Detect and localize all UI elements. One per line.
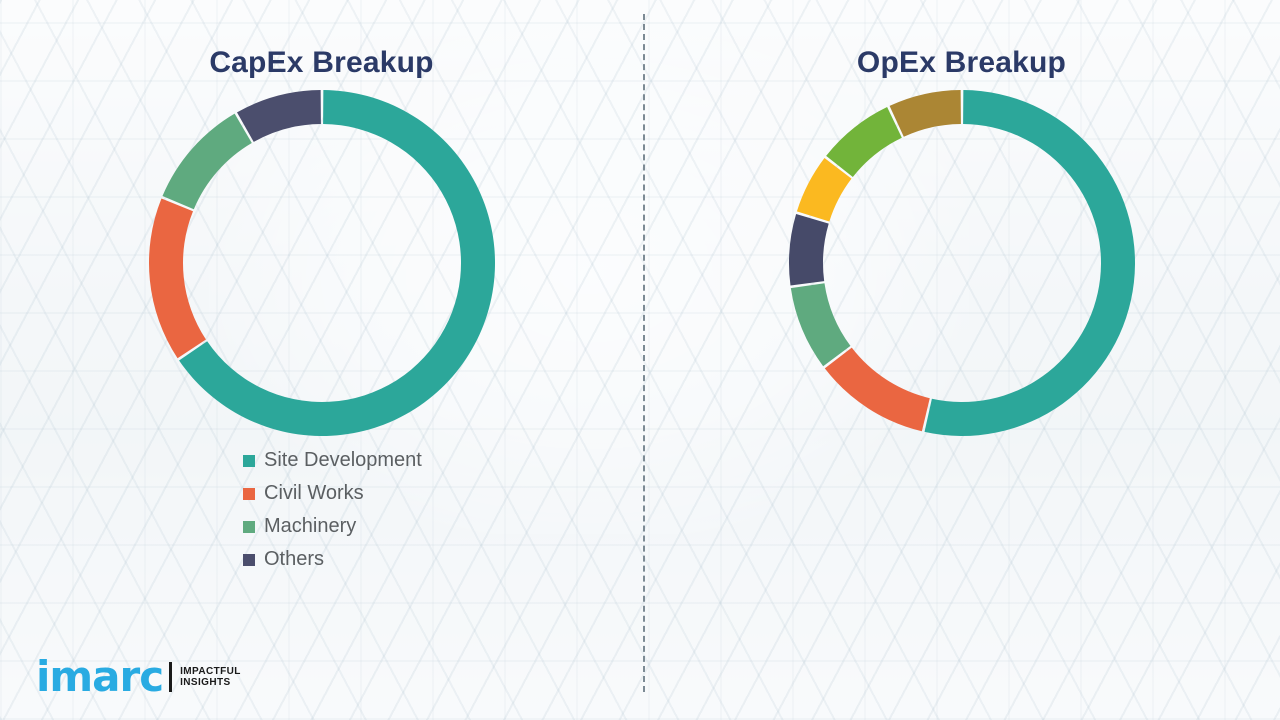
capex-donut-chart xyxy=(0,88,643,438)
legend-label: Machinery xyxy=(264,515,356,538)
logo-divider-icon xyxy=(169,662,172,692)
donut-slice xyxy=(790,283,850,366)
logo-tagline-line2: INSIGHTS xyxy=(180,677,241,689)
donut-slice xyxy=(162,114,251,210)
logo-tagline: IMPACTFUL INSIGHTS xyxy=(180,666,241,689)
capex-panel: CapEx Breakup Site DevelopmentCivil Work… xyxy=(0,0,643,720)
donut-slice xyxy=(924,90,1134,436)
legend-label: Civil Works xyxy=(264,482,364,505)
legend-swatch-icon xyxy=(243,554,255,566)
opex-donut-chart xyxy=(643,88,1280,438)
capex-donut-svg xyxy=(147,88,497,438)
capex-legend-item[interactable]: Site Development xyxy=(243,449,422,472)
donut-slice xyxy=(824,348,929,432)
donut-slice xyxy=(889,90,960,137)
opex-donut-svg xyxy=(787,88,1137,438)
legend-swatch-icon xyxy=(243,455,255,467)
logo-wordmark: imarc xyxy=(36,656,163,698)
legend-swatch-icon xyxy=(243,488,255,500)
legend-swatch-icon xyxy=(243,521,255,533)
opex-chart-title: OpEx Breakup xyxy=(643,46,1280,80)
donut-slice xyxy=(236,90,320,142)
donut-slice xyxy=(826,107,902,177)
capex-legend-item[interactable]: Others xyxy=(243,548,422,571)
logo-tagline-line1: IMPACTFUL xyxy=(180,666,241,678)
legend-label: Site Development xyxy=(264,449,422,472)
imarc-logo: imarc IMPACTFUL INSIGHTS xyxy=(36,656,241,698)
slide-stage: CapEx Breakup Site DevelopmentCivil Work… xyxy=(0,0,1280,720)
capex-chart-title: CapEx Breakup xyxy=(0,46,643,80)
donut-slice xyxy=(149,199,206,359)
capex-legend-item[interactable]: Machinery xyxy=(243,515,422,538)
legend-label: Others xyxy=(264,548,324,571)
opex-panel: OpEx Breakup Raw MaterialsSalaries and W… xyxy=(643,0,1280,720)
capex-legend: Site DevelopmentCivil WorksMachineryOthe… xyxy=(243,449,422,571)
donut-slice xyxy=(789,214,829,286)
capex-legend-item[interactable]: Civil Works xyxy=(243,482,422,505)
